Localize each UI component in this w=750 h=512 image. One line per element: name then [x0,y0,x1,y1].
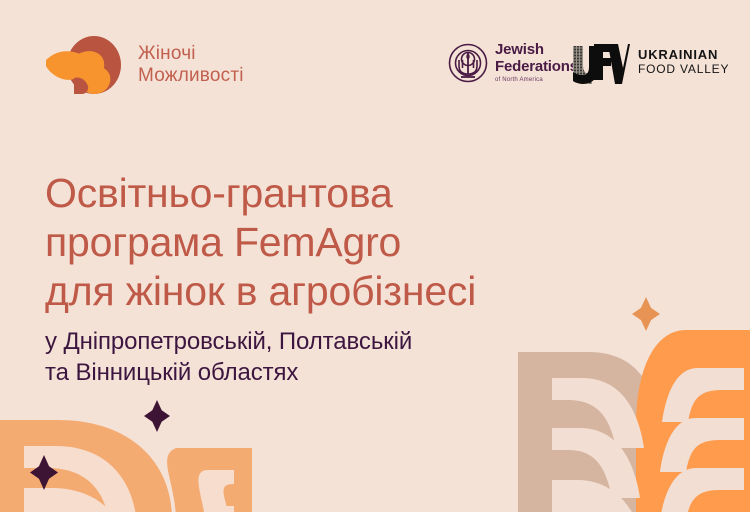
menorah-icon [448,43,488,83]
jf-label-line2: Federations [495,59,578,74]
jf-label-line3: of North America [495,77,578,83]
partner-logo-jewish-federations[interactable]: Jewish Federations of North America [448,42,578,83]
ufv-label-line1: UKRAINIAN [638,48,729,63]
ufv-label-line2: FOOD VALLEY [638,63,729,77]
jf-label-line1: Jewish [495,42,578,57]
subheadline: у Дніпропетровській, Полтавській та Вінн… [45,326,645,388]
woman-profile-logo-icon [44,34,128,96]
star-diamond-icon [30,455,58,490]
logo-header: Жіночі Можливості Jewish Federations of … [0,0,750,120]
book-illustration-left [0,412,252,512]
star-diamond-icon [144,400,170,432]
ufv-monogram-icon [570,40,630,84]
poster-canvas: Жіночі Можливості Jewish Federations of … [0,0,750,512]
headline: Освітньо-грантова програма FemAgro для ж… [45,169,665,316]
brand-logo-zhinochi-mozhlyvosti[interactable]: Жіночі Можливості [44,34,244,96]
partner-logo-ukrainian-food-valley[interactable]: UKRAINIAN FOOD VALLEY [570,40,729,84]
brand-name-text: Жіночі Можливості [138,43,244,87]
